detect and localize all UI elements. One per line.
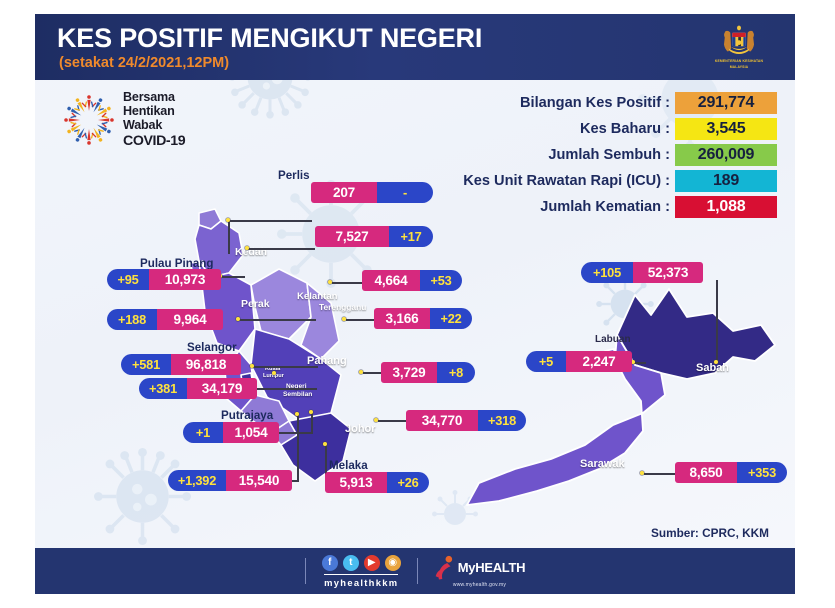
new-value-kelantan: +53 bbox=[420, 270, 462, 291]
source-credit: Sumber: CPRC, KKM bbox=[651, 526, 769, 540]
badge-selangor[interactable]: +581 96,818 bbox=[121, 354, 241, 375]
ministry-crest: KEMENTERIAN KESIHATAN MALAYSIA bbox=[707, 18, 771, 76]
stat-value: 291,774 bbox=[675, 92, 777, 114]
badge-pahang[interactable]: 3,729 +8 bbox=[381, 362, 475, 383]
leader-line-johor bbox=[378, 420, 408, 422]
stat-label: Kes Baharu : bbox=[580, 121, 670, 137]
leader-line-kelantan bbox=[332, 282, 362, 284]
badge-title-putrajaya: Putrajaya bbox=[221, 409, 273, 422]
badge-title-perlis: Perlis bbox=[278, 169, 310, 182]
new-value-kedah: +17 bbox=[389, 226, 433, 247]
new-value-johor: +318 bbox=[478, 410, 526, 431]
state-shape-sabah bbox=[617, 289, 775, 379]
new-value-putrajaya: +1 bbox=[183, 422, 223, 443]
badge-kl[interactable]: +381 34,179 bbox=[139, 378, 257, 399]
leader-line-terengganu bbox=[346, 319, 374, 321]
myhealth-runner-icon bbox=[434, 555, 456, 581]
social-icons: ft▶◉ bbox=[322, 555, 401, 571]
cases-value-labuan: 2,247 bbox=[566, 351, 632, 372]
footer-bar: ft▶◉ myhealthkkm MyHEALTH www.myhealth.g… bbox=[35, 548, 795, 594]
stat-value: 189 bbox=[675, 170, 777, 192]
stat-label: Kes Unit Rawatan Rapi (ICU) : bbox=[463, 173, 670, 189]
myhealth-word: MyHEALTH bbox=[458, 560, 525, 575]
page-title: KES POSITIF MENGIKUT NEGERI bbox=[57, 23, 482, 54]
map-dot-selangor bbox=[250, 364, 254, 368]
twitter-icon[interactable]: t bbox=[343, 555, 359, 571]
badge-johor[interactable]: 34,770 +318 bbox=[406, 410, 526, 431]
badge-title-melaka: Melaka bbox=[329, 459, 368, 472]
cases-value-negeri-sembilan: 15,540 bbox=[226, 470, 292, 491]
badge-kedah[interactable]: 7,527 +17 bbox=[315, 226, 433, 247]
bhw-logo-text: Bersama Hentikan Wabak COVID-19 bbox=[123, 90, 185, 149]
leader-line-putrajaya-v bbox=[311, 412, 313, 434]
badge-perak[interactable]: +188 9,964 bbox=[107, 309, 223, 330]
new-value-perlis: - bbox=[377, 182, 433, 203]
stat-row: Jumlah Sembuh :260,009 bbox=[377, 144, 777, 166]
bhw-line-3: Wabak bbox=[123, 118, 185, 132]
cases-value-selangor: 96,818 bbox=[171, 354, 241, 375]
map-dot-kl bbox=[272, 371, 276, 375]
new-value-labuan: +5 bbox=[526, 351, 566, 372]
myhealth-url: www.myhealth.gov.my bbox=[453, 582, 506, 588]
map-dot-sabah bbox=[714, 360, 718, 364]
new-value-sarawak: +353 bbox=[737, 462, 787, 483]
social-handle: myhealthkkm bbox=[324, 574, 398, 588]
map-dot-putrajaya bbox=[309, 410, 313, 414]
badge-sarawak[interactable]: 8,650 +353 bbox=[675, 462, 787, 483]
crest-line-2: MALAYSIA bbox=[730, 65, 749, 70]
map-dot-terengganu bbox=[342, 317, 346, 321]
bhw-line-1: Bersama bbox=[123, 90, 185, 104]
footer-divider-right bbox=[417, 558, 418, 584]
stat-label: Jumlah Kematian : bbox=[540, 199, 670, 215]
leader-line-perlis-h bbox=[228, 220, 312, 222]
new-value-melaka: +26 bbox=[387, 472, 429, 493]
map-dot-negeri-sembilan bbox=[295, 412, 299, 416]
social-block: ft▶◉ myhealthkkm bbox=[322, 555, 401, 588]
map-dot-kelantan bbox=[328, 280, 332, 284]
leader-line-perlis bbox=[228, 220, 230, 254]
leader-line-selangor bbox=[252, 366, 318, 368]
badge-terengganu[interactable]: 3,166 +22 bbox=[374, 308, 472, 329]
youtube-icon[interactable]: ▶ bbox=[364, 555, 380, 571]
instagram-icon[interactable]: ◉ bbox=[385, 555, 401, 571]
badge-title-selangor: Selangor bbox=[187, 341, 237, 354]
badge-penang[interactable]: +95 10,973 bbox=[107, 269, 221, 290]
myhealth-logo[interactable]: MyHEALTH www.myhealth.gov.my bbox=[434, 555, 525, 588]
leader-line-ns-v bbox=[297, 414, 299, 482]
badge-negeri-sembilan[interactable]: +1,392 15,540 bbox=[168, 470, 292, 491]
new-value-pahang: +8 bbox=[437, 362, 475, 383]
stat-row: Bilangan Kes Positif :291,774 bbox=[377, 92, 777, 114]
leader-line-perak bbox=[238, 319, 316, 321]
bhw-line-2: Hentikan bbox=[123, 104, 185, 118]
new-value-selangor: +581 bbox=[121, 354, 171, 375]
leader-line-kedah bbox=[247, 248, 315, 250]
facebook-icon[interactable]: f bbox=[322, 555, 338, 571]
state-shape-kelantan bbox=[251, 269, 311, 339]
cases-value-sarawak: 8,650 bbox=[675, 462, 737, 483]
badge-melaka[interactable]: 5,913 +26 bbox=[325, 472, 429, 493]
footer-divider-left bbox=[305, 558, 306, 584]
cases-value-melaka: 5,913 bbox=[325, 472, 387, 493]
header-bar: KES POSITIF MENGIKUT NEGERI (setakat 24/… bbox=[35, 14, 795, 80]
map-dot-sarawak bbox=[640, 471, 644, 475]
cases-value-perlis: 207 bbox=[311, 182, 377, 203]
cases-value-penang: 10,973 bbox=[149, 269, 221, 290]
cases-value-terengganu: 3,166 bbox=[374, 308, 430, 329]
stat-row: Kes Unit Rawatan Rapi (ICU) :189 bbox=[377, 170, 777, 192]
new-value-kl: +381 bbox=[139, 378, 187, 399]
bhw-line-4: COVID-19 bbox=[123, 133, 185, 149]
badge-sabah[interactable]: +105 52,373 bbox=[581, 262, 703, 283]
new-value-penang: +95 bbox=[107, 269, 149, 290]
crest-line-1: KEMENTERIAN KESIHATAN bbox=[715, 59, 763, 64]
badge-putrajaya[interactable]: +1 1,054 bbox=[183, 422, 279, 443]
page-subtitle: (setakat 24/2/2021,12PM) bbox=[59, 55, 229, 71]
content-card: KES POSITIF MENGIKUT NEGERI (setakat 24/… bbox=[35, 14, 795, 594]
bhw-starburst-icon bbox=[61, 92, 117, 148]
stat-label: Bilangan Kes Positif : bbox=[520, 95, 670, 111]
new-value-negeri-sembilan: +1,392 bbox=[168, 470, 226, 491]
badge-perlis[interactable]: 207 - bbox=[311, 182, 433, 203]
cases-value-kl: 34,179 bbox=[187, 378, 257, 399]
cases-value-kelantan: 4,664 bbox=[362, 270, 420, 291]
map-dot-melaka bbox=[323, 442, 327, 446]
map-dot-perlis bbox=[226, 218, 230, 222]
cases-value-sabah: 52,373 bbox=[633, 262, 703, 283]
stat-label: Jumlah Sembuh : bbox=[548, 147, 670, 163]
bhw-logo: Bersama Hentikan Wabak COVID-19 bbox=[61, 88, 251, 150]
infographic-page: KES POSITIF MENGIKUT NEGERI (setakat 24/… bbox=[0, 0, 835, 608]
map-dot-kedah bbox=[245, 246, 249, 250]
stat-value: 260,009 bbox=[675, 144, 777, 166]
badge-kelantan[interactable]: 4,664 +53 bbox=[362, 270, 462, 291]
malaysia-coat-of-arms-icon bbox=[719, 24, 759, 58]
cases-value-kedah: 7,527 bbox=[315, 226, 389, 247]
leader-line-sabah bbox=[716, 280, 718, 362]
new-value-perak: +188 bbox=[107, 309, 157, 330]
stat-value: 3,545 bbox=[675, 118, 777, 140]
leader-line-penang bbox=[221, 276, 245, 278]
map-dot-perak bbox=[236, 317, 240, 321]
cases-value-pahang: 3,729 bbox=[381, 362, 437, 383]
cases-value-perak: 9,964 bbox=[157, 309, 223, 330]
new-value-terengganu: +22 bbox=[430, 308, 472, 329]
stat-value: 1,088 bbox=[675, 196, 777, 218]
stat-row: Kes Baharu :3,545 bbox=[377, 118, 777, 140]
badge-labuan[interactable]: +5 2,247 bbox=[526, 351, 632, 372]
map-dot-pahang bbox=[359, 370, 363, 374]
cases-value-putrajaya: 1,054 bbox=[223, 422, 279, 443]
new-value-sabah: +105 bbox=[581, 262, 633, 283]
cases-value-johor: 34,770 bbox=[406, 410, 478, 431]
map-dot-johor bbox=[374, 418, 378, 422]
